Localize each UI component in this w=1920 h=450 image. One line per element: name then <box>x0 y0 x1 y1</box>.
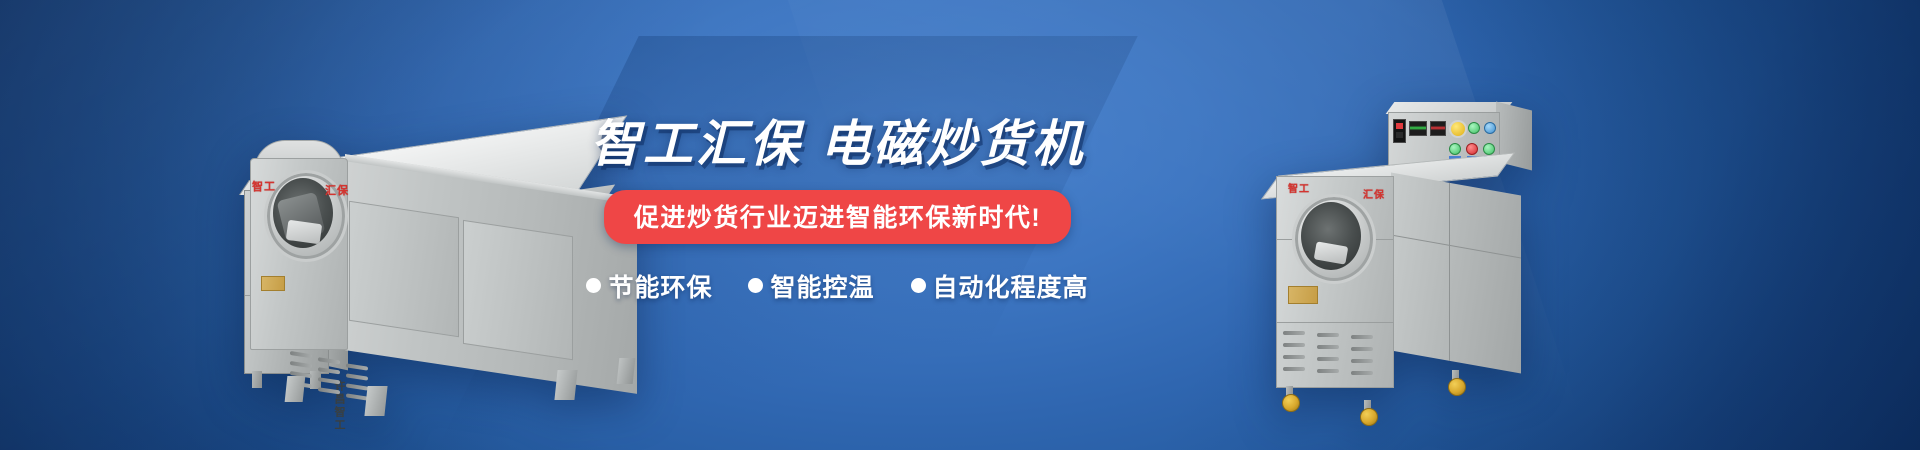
feature-label-2: 自动化程度高 <box>933 268 1089 304</box>
compact-display-time <box>1430 121 1446 136</box>
feature-label-0: 节能环保 <box>608 268 712 304</box>
compact-emergency-stop[interactable] <box>1449 120 1467 138</box>
bullet-dot-icon <box>748 278 763 293</box>
caster-wheel-1 <box>1282 394 1300 412</box>
compact-button-5[interactable] <box>1483 143 1495 155</box>
compact-drum-interior <box>1301 202 1361 270</box>
compact-button-1[interactable] <box>1468 122 1480 134</box>
compact-body-side <box>1391 173 1521 374</box>
banner-slogan-ribbon: 促进炒货行业迈进智能环保新时代! <box>604 190 1071 244</box>
bullet-dot-icon <box>911 278 926 293</box>
compact-brand-left: 智工 <box>1288 180 1310 195</box>
roaster-door-left[interactable] <box>349 201 459 337</box>
compact-display-main <box>1393 119 1406 143</box>
roaster-door-right[interactable] <box>463 220 573 360</box>
caster-wheel-2 <box>1360 408 1378 426</box>
roaster-leg-2 <box>364 386 387 416</box>
roaster-nameplate <box>261 276 285 291</box>
cabinet-leg-left <box>252 371 262 388</box>
compact-nameplate <box>1288 286 1318 304</box>
headline-brand: 智工汇保 <box>590 116 802 172</box>
compact-display-temp <box>1409 121 1427 136</box>
compact-button-3[interactable] <box>1449 143 1461 155</box>
compact-button-4[interactable] <box>1466 143 1478 155</box>
roaster-leg-4 <box>617 358 636 384</box>
compact-vent-housing <box>1276 322 1394 388</box>
compact-brand-right: 汇保 <box>1363 186 1385 201</box>
feature-label-1: 智能控温 <box>770 268 874 304</box>
feature-item-2: 自动化程度高 <box>911 268 1089 304</box>
product-image-compact-roaster: 智工 汇保 <box>1270 108 1570 438</box>
promo-banner: 许昌智工 智工 汇保 <box>0 0 1920 450</box>
banner-feature-list: 节能环保 智能控温 自动化程度高 <box>565 268 1110 304</box>
banner-headline: 智工汇保电磁炒货机 <box>565 118 1110 171</box>
feature-item-1: 智能控温 <box>748 268 874 304</box>
bullet-dot-icon <box>586 278 601 293</box>
feature-item-0: 节能环保 <box>586 268 712 304</box>
brand-text-right: 汇保 <box>325 182 349 198</box>
headline-product: 电磁炒货机 <box>820 116 1085 172</box>
roaster-drum-interior <box>273 178 333 248</box>
banner-copy: 智工汇保电磁炒货机 促进炒货行业迈进智能环保新时代! 节能环保 智能控温 自动化… <box>565 118 1110 304</box>
caster-wheel-3 <box>1448 378 1466 396</box>
roaster-leg-3 <box>554 370 577 400</box>
compact-button-2[interactable] <box>1484 122 1496 134</box>
roaster-leg-1 <box>285 376 306 402</box>
brand-text-left: 智工 <box>252 178 276 194</box>
